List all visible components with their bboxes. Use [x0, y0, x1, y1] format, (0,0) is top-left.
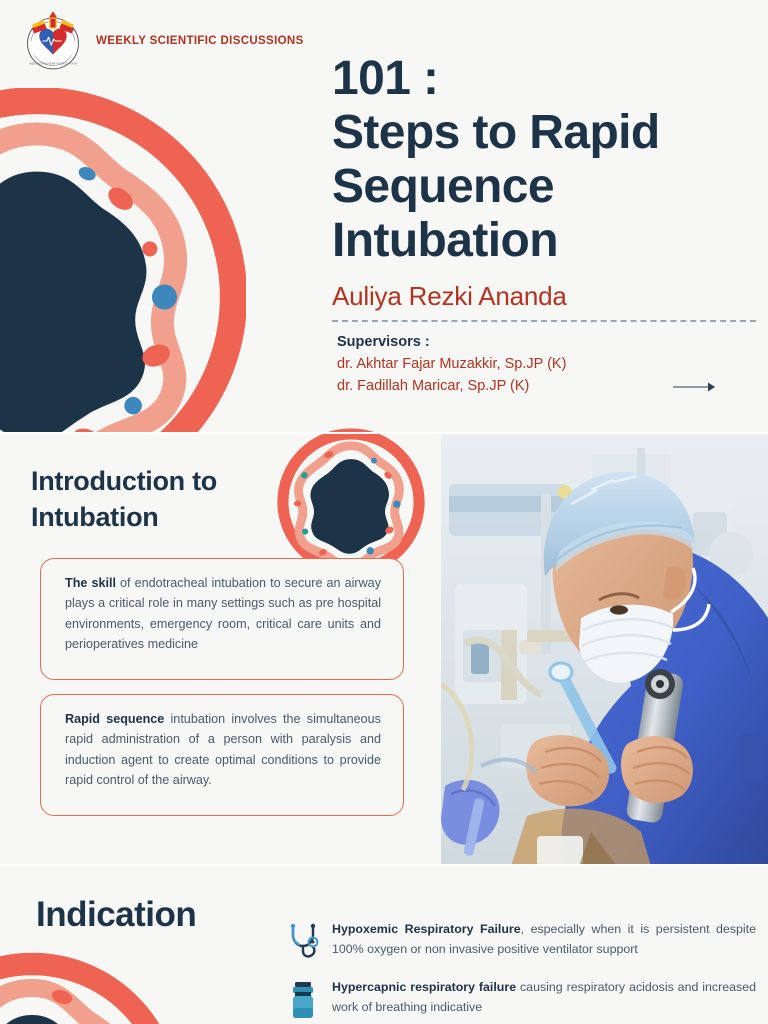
list-item: Hypercapnic respiratory failure causing …	[286, 978, 756, 1020]
intro-callout-skill: The skill of endotracheal intubation to …	[40, 558, 404, 680]
supervisor-name-1: dr. Akhtar Fajar Muzakkir, Sp.JP (K)	[337, 353, 752, 375]
introduction-heading-line-2: Intubation	[31, 499, 281, 535]
slide-divider-2	[0, 864, 768, 866]
intro-callout-rsi-bold: Rapid sequence	[65, 712, 164, 726]
list-item: Hypoxemic Respiratory Failure, especiall…	[286, 920, 756, 962]
intro-callout-rsi-text: Rapid sequence intubation involves the s…	[65, 709, 381, 791]
deck-title: 101 : Steps to Rapid Sequence Intubation	[332, 52, 752, 268]
medical-vial-icon	[286, 980, 320, 1020]
next-arrow-icon[interactable]	[672, 380, 716, 394]
intro-callout-skill-text: The skill of endotracheal intubation to …	[65, 573, 381, 655]
indication-item-bold: Hypercapnic respiratory failure	[332, 980, 516, 994]
introduction-heading-line-1: Introduction to	[31, 463, 281, 499]
airway-cross-section-icon	[277, 428, 425, 576]
dashed-divider	[332, 320, 756, 322]
indication-item-bold: Hypoxemic Respiratory Failure	[332, 922, 521, 936]
title-line-3: Sequence	[332, 160, 752, 214]
slide-divider-1	[0, 432, 768, 434]
presentation-document: INDONESIAN HEART ASSOCIATION WEEKLY SCIE…	[0, 0, 768, 1024]
indication-list: Hypoxemic Respiratory Failure, especiall…	[286, 920, 756, 1024]
intubation-photo	[441, 434, 768, 866]
introduction-heading: Introduction to Intubation	[31, 463, 281, 535]
header-title: WEEKLY SCIENTIFIC DISCUSSIONS	[96, 35, 304, 47]
stethoscope-icon	[286, 922, 320, 962]
intro-callout-rsi: Rapid sequence intubation involves the s…	[40, 694, 404, 816]
author-name: Auliya Rezki Ananda	[332, 280, 752, 312]
title-block: 101 : Steps to Rapid Sequence Intubation…	[332, 52, 752, 397]
cardiology-crest-logo: INDONESIAN HEART ASSOCIATION	[22, 10, 84, 72]
title-line-4: Intubation	[332, 214, 752, 268]
indication-heading: Indication	[36, 893, 196, 937]
indication-item-text: Hypoxemic Respiratory Failure, especiall…	[332, 920, 756, 959]
indication-item-text: Hypercapnic respiratory failure causing …	[332, 978, 756, 1017]
svg-text:INDONESIAN HEART ASSOCIATION: INDONESIAN HEART ASSOCIATION	[29, 62, 77, 66]
supervisors-label: Supervisors :	[337, 332, 752, 353]
title-line-1: 101 :	[332, 52, 752, 106]
intro-callout-skill-bold: The skill	[65, 576, 116, 590]
slide-title: INDONESIAN HEART ASSOCIATION WEEKLY SCIE…	[0, 0, 768, 434]
airway-cross-section-decor-bottom	[0, 952, 182, 1024]
airway-cross-section-illustration	[0, 88, 246, 434]
title-line-2: Steps to Rapid	[332, 106, 752, 160]
header: INDONESIAN HEART ASSOCIATION WEEKLY SCIE…	[22, 10, 304, 72]
